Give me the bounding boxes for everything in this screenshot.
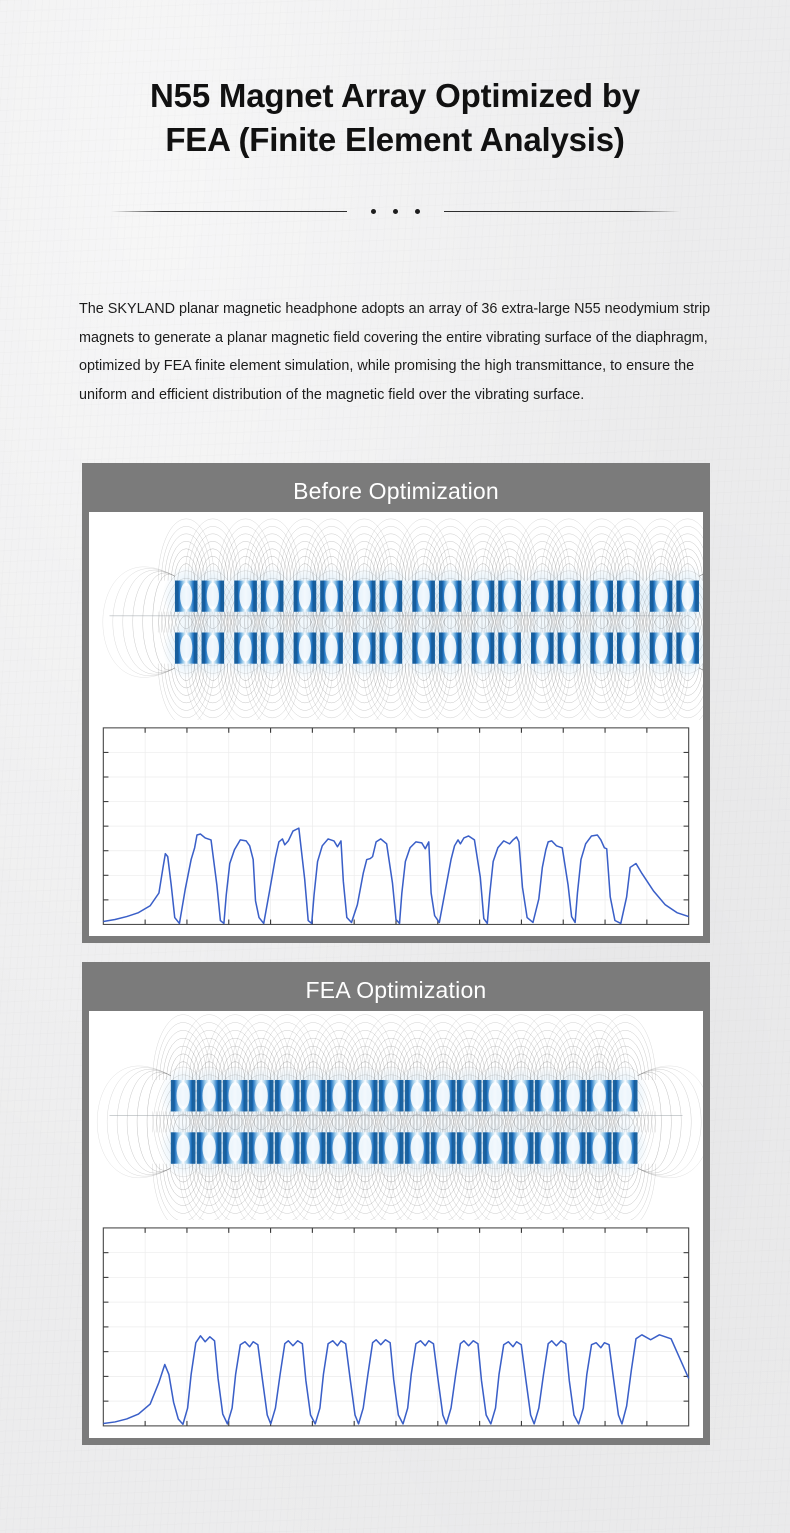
magnet-cell xyxy=(380,632,403,663)
magnet-cell xyxy=(197,1132,222,1163)
magnet-cell xyxy=(234,581,257,612)
magnet-cell xyxy=(457,1080,482,1111)
magnet-cell xyxy=(223,1132,248,1163)
divider-line-left xyxy=(111,211,347,212)
magnet-cell xyxy=(676,581,699,612)
magnet-cell xyxy=(650,632,673,663)
magnet-cell xyxy=(261,581,284,612)
magnet-cell xyxy=(301,1132,326,1163)
magnet-cell xyxy=(301,1080,326,1111)
magnet-cell xyxy=(509,1132,534,1163)
magnet-cell xyxy=(590,581,613,612)
divider-line-right xyxy=(444,211,680,212)
magnet-cell xyxy=(320,581,343,612)
panel-fea-optimization: FEA Optimization xyxy=(82,962,710,1445)
magnet-cell xyxy=(171,1080,196,1111)
magnet-cell xyxy=(234,632,257,663)
magnet-cell xyxy=(249,1080,274,1111)
magnet-cell xyxy=(509,1080,534,1111)
magnet-cell xyxy=(531,581,554,612)
magnet-cell xyxy=(412,581,435,612)
magnet-cell xyxy=(327,1132,352,1163)
magnet-cell xyxy=(457,1132,482,1163)
divider-dot xyxy=(393,209,398,214)
section-divider xyxy=(0,196,790,226)
magnet-cell xyxy=(558,581,581,612)
magnet-cell xyxy=(327,1080,352,1111)
page-title-line-1: N55 Magnet Array Optimized by xyxy=(150,77,640,114)
field-strength-chart-fea xyxy=(89,1220,703,1438)
panel-body-before xyxy=(89,512,703,936)
magnet-cell xyxy=(202,581,225,612)
magnet-cell xyxy=(613,1080,638,1111)
magnet-cell xyxy=(202,632,225,663)
magnet-cell xyxy=(483,1080,508,1111)
magnet-cell xyxy=(405,1132,430,1163)
magnet-cell xyxy=(261,632,284,663)
magnet-cell xyxy=(617,581,640,612)
magnet-cell xyxy=(275,1080,300,1111)
magnet-cell xyxy=(412,632,435,663)
magnet-cell xyxy=(249,1132,274,1163)
magnet-cell xyxy=(590,632,613,663)
divider-dots xyxy=(347,209,444,214)
magnet-cell xyxy=(561,1132,586,1163)
magnet-cell xyxy=(439,632,462,663)
field-map-before xyxy=(89,512,703,720)
magnet-cell xyxy=(558,632,581,663)
magnet-cell xyxy=(379,1132,404,1163)
magnet-cell xyxy=(617,632,640,663)
magnet-cell xyxy=(587,1080,612,1111)
magnet-cell xyxy=(561,1080,586,1111)
magnet-cell xyxy=(405,1080,430,1111)
magnet-cell xyxy=(498,581,521,612)
panel-before-optimization: Before Optimization xyxy=(82,463,710,943)
magnet-cell xyxy=(171,1132,196,1163)
magnet-cell xyxy=(535,1132,560,1163)
magnet-cell xyxy=(320,632,343,663)
magnet-cell xyxy=(531,632,554,663)
magnet-cell xyxy=(353,1132,378,1163)
body-paragraph: The SKYLAND planar magnetic headphone ad… xyxy=(79,295,713,409)
magnet-cell xyxy=(676,632,699,663)
magnet-cell xyxy=(353,1080,378,1111)
magnet-cell xyxy=(197,1080,222,1111)
field-map-fea xyxy=(89,1011,703,1220)
magnet-cell xyxy=(380,581,403,612)
field-map-before-svg xyxy=(89,512,703,720)
magnet-cell xyxy=(472,632,495,663)
magnet-cell xyxy=(483,1132,508,1163)
magnet-cell xyxy=(439,581,462,612)
magnet-cell xyxy=(294,581,317,612)
field-strength-chart-before xyxy=(89,720,703,936)
field-strength-chart-fea-svg xyxy=(89,1220,703,1438)
field-strength-chart-before-svg xyxy=(89,720,703,936)
magnet-cell xyxy=(175,632,198,663)
magnet-cell xyxy=(275,1132,300,1163)
magnet-cell xyxy=(175,581,198,612)
magnet-cell xyxy=(431,1080,456,1111)
magnet-cell xyxy=(223,1080,248,1111)
magnet-cell xyxy=(379,1080,404,1111)
page-title-line-2: FEA (Finite Element Analysis) xyxy=(0,118,790,162)
field-map-fea-svg xyxy=(89,1011,703,1220)
magnet-cell xyxy=(498,632,521,663)
panel-body-fea xyxy=(89,1011,703,1438)
magnet-cell xyxy=(587,1132,612,1163)
magnet-cell xyxy=(431,1132,456,1163)
magnet-cell xyxy=(472,581,495,612)
magnet-cell xyxy=(353,632,376,663)
page-title: N55 Magnet Array Optimized by FEA (Finit… xyxy=(0,74,790,162)
magnet-cell xyxy=(535,1080,560,1111)
panel-title-fea: FEA Optimization xyxy=(89,969,703,1011)
magnet-cell xyxy=(294,632,317,663)
divider-dot xyxy=(371,209,376,214)
page-root: N55 Magnet Array Optimized by FEA (Finit… xyxy=(0,0,790,1533)
magnet-cell xyxy=(353,581,376,612)
magnet-cell xyxy=(650,581,673,612)
magnet-cell xyxy=(613,1132,638,1163)
panel-title-before: Before Optimization xyxy=(89,470,703,512)
divider-dot xyxy=(415,209,420,214)
